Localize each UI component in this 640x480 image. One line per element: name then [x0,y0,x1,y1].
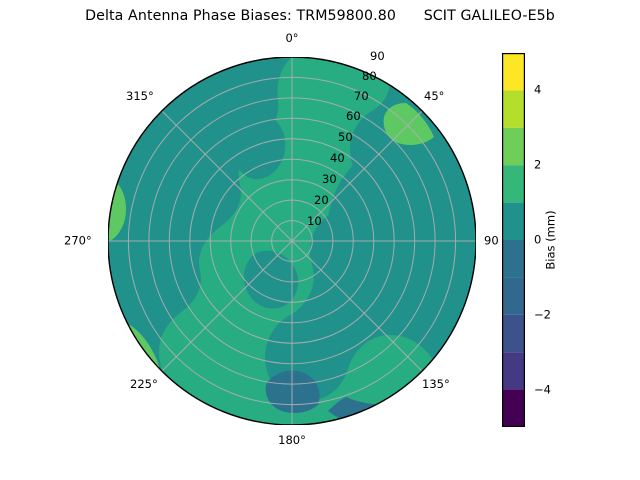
r-tick-80: 80 [362,71,377,83]
cbar-band-3-4 [502,90,525,127]
colorbar-axis-label: Bias (mm) [545,210,557,269]
theta-tick-315: 315° [126,91,154,103]
r-tick-90: 90 [370,51,385,63]
cbar-tick-label-2: 2 [534,159,541,171]
r-tick-10: 10 [307,216,322,228]
cbar-band-4-5 [502,53,525,90]
cbar-band-neg4-neg3 [502,352,525,389]
cbar-band-neg2-neg1 [502,277,525,314]
cbar-band-neg1-0 [502,240,525,277]
theta-tick-135: 135° [422,379,450,391]
r-tick-60: 60 [346,111,361,123]
theta-tick-180: 180° [278,435,306,447]
theta-tick-225: 225° [130,379,158,391]
page-title: Delta Antenna Phase Biases: TRM59800.80 … [0,8,640,24]
r-tick-20: 20 [314,195,329,207]
polar-grid-spokes [108,57,476,425]
colorbar-gradient [502,53,525,427]
r-tick-40: 40 [330,153,345,165]
cbar-band-neg5-neg4 [502,390,525,427]
theta-tick-0: 0° [285,33,298,45]
r-tick-70: 70 [354,91,369,103]
polar-plot: 0° 45° 90 135° 180° 225° 270° 315° 10 20… [108,57,476,425]
theta-tick-270: 270° [64,235,92,247]
polar-plot-canvas [108,57,476,425]
r-tick-50: 50 [338,132,353,144]
cbar-band-2-3 [502,128,525,165]
cbar-tick-label-4: 4 [534,84,541,96]
cbar-band-neg3-neg2 [502,315,525,352]
r-tick-30: 30 [322,174,337,186]
colorbar [502,53,525,427]
cbar-tick-label-0: 0 [534,234,541,246]
cbar-tick-label-neg4: −4 [534,384,551,396]
cbar-tick-label-neg2: −2 [534,309,551,321]
theta-tick-90: 90 [484,235,499,247]
cbar-band-0-1 [502,203,525,240]
cbar-band-1-2 [502,165,525,202]
theta-tick-45: 45° [424,91,444,103]
